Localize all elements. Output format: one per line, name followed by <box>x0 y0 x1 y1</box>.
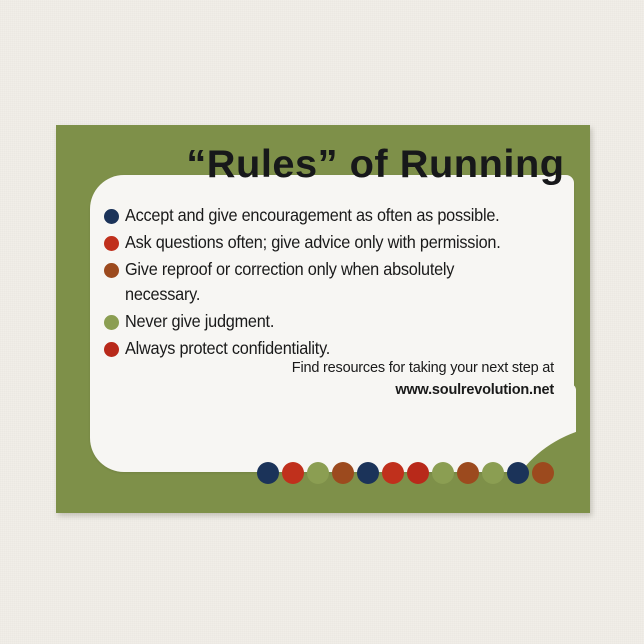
bullet-dot-icon <box>104 342 119 357</box>
strip-dot-icon <box>457 462 479 484</box>
strip-dot-icon <box>257 462 279 484</box>
page-canvas: “Rules” of Running Accept and give encou… <box>0 0 644 644</box>
strip-dot-icon <box>332 462 354 484</box>
bullet-dot-icon <box>104 236 119 251</box>
strip-dot-icon <box>282 462 304 484</box>
bullet-dot-icon <box>104 209 119 224</box>
rules-list: Accept and give encouragement as often a… <box>104 203 534 363</box>
strip-dot-icon <box>432 462 454 484</box>
strip-dot-icon <box>532 462 554 484</box>
card-footer: Find resources for taking your next step… <box>224 357 554 401</box>
strip-dot-icon <box>357 462 379 484</box>
footer-url: www.soulrevolution.net <box>224 379 554 401</box>
rule-text: Accept and give encouragement as often a… <box>125 203 505 228</box>
strip-dot-icon <box>482 462 504 484</box>
rule-item: Ask questions often; give advice only wi… <box>104 230 534 255</box>
rule-text: Give reproof or correction only when abs… <box>125 257 505 307</box>
strip-dot-icon <box>507 462 529 484</box>
bullet-dot-icon <box>104 263 119 278</box>
rule-item: Never give judgment. <box>104 309 534 334</box>
business-card: “Rules” of Running Accept and give encou… <box>56 125 590 513</box>
strip-dot-icon <box>407 462 429 484</box>
card-title: “Rules” of Running <box>146 143 590 187</box>
rule-text: Never give judgment. <box>125 309 505 334</box>
bullet-dot-icon <box>104 315 119 330</box>
strip-dot-icon <box>307 462 329 484</box>
rule-item: Accept and give encouragement as often a… <box>104 203 534 228</box>
decorative-dot-strip <box>257 462 554 484</box>
footer-tagline: Find resources for taking your next step… <box>224 357 554 379</box>
strip-dot-icon <box>382 462 404 484</box>
rule-text: Ask questions often; give advice only wi… <box>125 230 505 255</box>
rule-item: Give reproof or correction only when abs… <box>104 257 534 307</box>
